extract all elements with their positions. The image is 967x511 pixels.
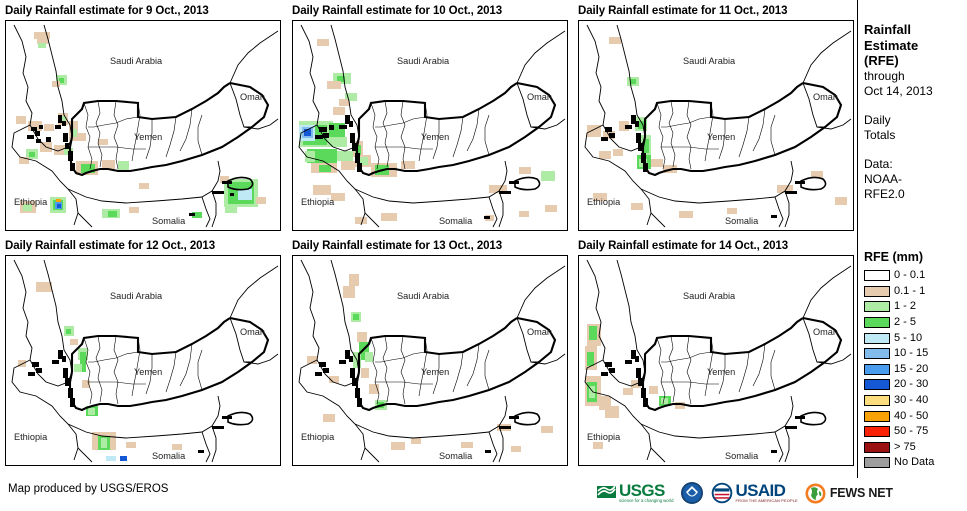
map-label-yemen: Yemen [134, 367, 162, 377]
panel-title: Daily Rainfall estimate for 12 Oct., 201… [5, 239, 281, 255]
noaa-logo[interactable] [680, 481, 704, 505]
map-svg: Saudi Arabia Oman Yemen Ethiopia Somalia [579, 21, 853, 230]
inland-borders [230, 31, 278, 129]
noaa-seal-icon [680, 481, 704, 505]
map-label-saudi-arabia: Saudi Arabia [110, 56, 163, 66]
map-panel-2: Daily Rainfall estimate for 10 Oct., 201… [292, 4, 568, 237]
map-label-somalia: Somalia [439, 216, 473, 226]
map-label-saudi-arabia: Saudi Arabia [683, 291, 736, 301]
sidebar-title: Rainfall Estimate (RFE) [864, 22, 967, 69]
legend-label: 0 - 0.1 [894, 270, 925, 281]
yemen-outline [643, 318, 841, 410]
somalia-borders [785, 191, 789, 227]
map-label-ethiopia: Ethiopia [587, 432, 621, 442]
map-panel-4: Daily Rainfall estimate for 12 Oct., 201… [5, 239, 281, 472]
map-panel-1: Daily Rainfall estimate for 9 Oct., 2013 [5, 4, 281, 237]
map-label-yemen: Yemen [707, 132, 735, 142]
sidebar-data-source: Data: NOAA- RFE2.0 [864, 157, 967, 202]
map-label-somalia: Somalia [725, 216, 759, 226]
sidebar-data-label: Data: [864, 157, 967, 172]
legend-swatch [864, 364, 890, 375]
inland-borders [230, 266, 278, 364]
usaid-seal-icon [711, 482, 733, 504]
usaid-tagline: FROM THE AMERICAN PEOPLE [735, 498, 797, 503]
sidebar-divider [857, 0, 858, 478]
usaid-wordmark: USAID [735, 483, 797, 498]
panel-title: Daily Rainfall estimate for 14 Oct., 201… [578, 239, 854, 255]
legend-swatch [864, 317, 890, 328]
yemen-outline [70, 83, 268, 175]
map-label-ethiopia: Ethiopia [301, 197, 335, 207]
sidebar-title-line3: (RFE) [864, 53, 967, 69]
legend-label: 30 - 40 [894, 395, 928, 406]
legend-rows: 0 - 0.10.1 - 11 - 22 - 55 - 1010 - 1515 … [864, 268, 967, 471]
map-svg: Saudi Arabia Oman Yemen Ethiopia Somalia [293, 256, 567, 465]
legend-label: 10 - 15 [894, 348, 928, 359]
legend-row: 40 - 50 [864, 408, 967, 424]
map-label-yemen: Yemen [134, 132, 162, 142]
sidebar-title-line1: Rainfall [864, 22, 967, 38]
map-panel-6: Daily Rainfall estimate for 14 Oct., 201… [578, 239, 854, 472]
sidebar-totals-line2: Totals [864, 128, 967, 143]
map-credit: Map produced by USGS/EROS [8, 483, 168, 495]
yemen-outline [357, 318, 555, 410]
legend-swatch [864, 333, 890, 344]
legend-row: 10 - 15 [864, 346, 967, 362]
legend-swatch [864, 348, 890, 359]
map-label-oman: Oman [240, 327, 265, 337]
inland-borders [803, 31, 851, 129]
map-label-oman: Oman [240, 92, 265, 102]
map-label-ethiopia: Ethiopia [587, 197, 621, 207]
legend-title: RFE (mm) [864, 250, 967, 264]
inland-borders [517, 31, 565, 129]
agency-logos: USGS science for a changing world USAID … [596, 479, 900, 507]
legend-swatch [864, 411, 890, 422]
map-label-saudi-arabia: Saudi Arabia [683, 56, 736, 66]
fews-globe-icon [805, 483, 826, 504]
map-label-ethiopia: Ethiopia [14, 432, 48, 442]
inland-borders [517, 266, 565, 364]
inland-borders [803, 266, 851, 364]
sidebar-totals: Daily Totals [864, 113, 967, 143]
legend-label: 5 - 10 [894, 333, 922, 344]
map-panel-5: Daily Rainfall estimate for 13 Oct., 201… [292, 239, 568, 472]
legend-swatch [864, 270, 890, 281]
map-label-oman: Oman [527, 92, 552, 102]
map-label-yemen: Yemen [421, 132, 449, 142]
map-label-yemen: Yemen [707, 367, 735, 377]
somalia-borders [785, 426, 789, 462]
legend-row: 0.1 - 1 [864, 284, 967, 300]
legend-label: 50 - 75 [894, 426, 928, 437]
map-canvas[interactable]: Saudi Arabia Oman Yemen Ethiopia Somalia [5, 255, 281, 466]
sidebar-through: through Oct 14, 2013 [864, 69, 967, 99]
sidebar-totals-line1: Daily [864, 113, 967, 128]
legend-swatch [864, 286, 890, 297]
map-label-saudi-arabia: Saudi Arabia [397, 291, 450, 301]
sidebar-data-line3: RFE2.0 [864, 187, 967, 202]
map-canvas[interactable]: Saudi Arabia Oman Yemen Ethiopia Somalia [578, 255, 854, 466]
fews-net-wordmark: FEWS NET [830, 486, 893, 500]
yemen-outline [357, 83, 555, 175]
somalia-borders [212, 191, 216, 227]
fews-net-logo[interactable]: FEWS NET [805, 483, 893, 504]
map-canvas[interactable]: Saudi Arabia Oman Yemen Ethiopia Somalia [578, 20, 854, 231]
legend-label: No Data [894, 457, 934, 468]
map-label-yemen: Yemen [421, 367, 449, 377]
panel-title: Daily Rainfall estimate for 10 Oct., 201… [292, 4, 568, 20]
map-canvas[interactable]: Saudi Arabia Oman Yemen Ethiopia Somalia [5, 20, 281, 231]
sidebar-through-date: Oct 14, 2013 [864, 84, 967, 99]
legend-swatch [864, 442, 890, 453]
legend-label: 2 - 5 [894, 317, 916, 328]
legend-label: > 75 [894, 442, 916, 453]
panel-title: Daily Rainfall estimate for 9 Oct., 2013 [5, 4, 281, 20]
usgs-mark-icon [596, 483, 618, 503]
map-panel-3: Daily Rainfall estimate for 11 Oct., 201… [578, 4, 854, 237]
yemen-outline [643, 83, 841, 175]
map-label-somalia: Somalia [152, 216, 186, 226]
somalia-borders [212, 426, 216, 462]
map-svg: Saudi Arabia Oman Yemen Ethiopia Somalia [6, 21, 280, 230]
map-canvas[interactable]: Saudi Arabia Oman Yemen Ethiopia Somalia [292, 255, 568, 466]
legend-swatch [864, 395, 890, 406]
legend-row: 2 - 5 [864, 315, 967, 331]
sidebar-title-line2: Estimate [864, 38, 967, 54]
map-label-somalia: Somalia [439, 451, 473, 461]
rfe-legend: RFE (mm) 0 - 0.10.1 - 11 - 22 - 55 - 101… [864, 250, 967, 471]
panel-title: Daily Rainfall estimate for 13 Oct., 201… [292, 239, 568, 255]
legend-swatch [864, 426, 890, 437]
map-label-somalia: Somalia [725, 451, 759, 461]
map-label-oman: Oman [813, 327, 838, 337]
legend-swatch [864, 301, 890, 312]
usgs-wordmark: USGS [619, 483, 673, 498]
legend-row: 30 - 40 [864, 393, 967, 409]
legend-row: 1 - 2 [864, 299, 967, 315]
rainfall-layer [585, 324, 685, 449]
map-svg: Saudi Arabia Oman Yemen Ethiopia Somalia [579, 256, 853, 465]
legend-row: No Data [864, 455, 967, 471]
sidebar-through-label: through [864, 69, 967, 84]
usgs-tagline: science for a changing world [619, 498, 673, 503]
map-label-somalia: Somalia [152, 451, 186, 461]
legend-label: 40 - 50 [894, 411, 928, 422]
somalia-borders [499, 426, 503, 462]
map-label-ethiopia: Ethiopia [14, 197, 48, 207]
map-canvas[interactable]: Saudi Arabia Oman Yemen Ethiopia Somalia [292, 20, 568, 231]
legend-label: 1 - 2 [894, 301, 916, 312]
legend-swatch [864, 457, 890, 468]
map-label-ethiopia: Ethiopia [301, 432, 335, 442]
legend-swatch [864, 379, 890, 390]
legend-label: 20 - 30 [894, 379, 928, 390]
legend-label: 0.1 - 1 [894, 286, 925, 297]
legend-row: > 75 [864, 440, 967, 456]
somalia-borders [499, 191, 503, 227]
sidebar-data-line2: NOAA- [864, 172, 967, 187]
map-label-saudi-arabia: Saudi Arabia [110, 291, 163, 301]
map-svg: Saudi Arabia Oman Yemen Ethiopia Somalia [293, 21, 567, 230]
info-sidebar: Rainfall Estimate (RFE) through Oct 14, … [864, 0, 967, 202]
legend-row: 50 - 75 [864, 424, 967, 440]
legend-row: 0 - 0.1 [864, 268, 967, 284]
usaid-logo[interactable]: USAID FROM THE AMERICAN PEOPLE [711, 482, 797, 504]
legend-label: 15 - 20 [894, 364, 928, 375]
usgs-logo[interactable]: USGS science for a changing world [596, 483, 673, 503]
legend-row: 15 - 20 [864, 362, 967, 378]
yemen-outline [70, 318, 268, 410]
panel-title: Daily Rainfall estimate for 11 Oct., 201… [578, 4, 854, 20]
map-label-saudi-arabia: Saudi Arabia [397, 56, 450, 66]
map-label-oman: Oman [813, 92, 838, 102]
legend-row: 5 - 10 [864, 330, 967, 346]
legend-row: 20 - 30 [864, 377, 967, 393]
map-label-oman: Oman [527, 327, 552, 337]
map-svg: Saudi Arabia Oman Yemen Ethiopia Somalia [6, 256, 280, 465]
